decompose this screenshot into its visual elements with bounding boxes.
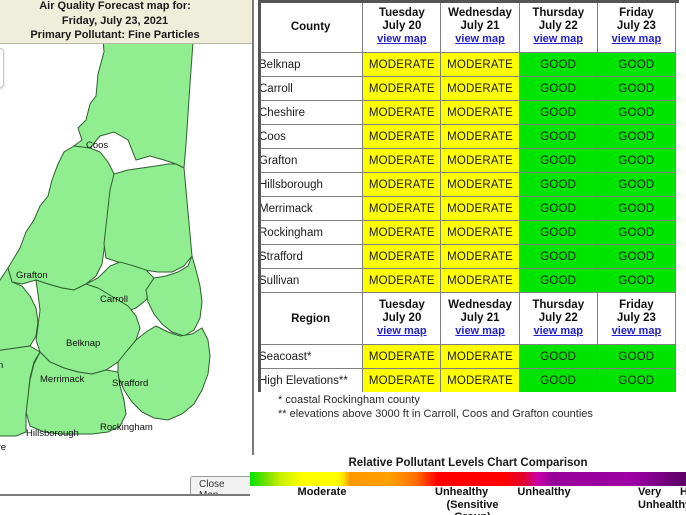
forecast-value: MODERATE — [441, 269, 519, 293]
view-map-link[interactable]: view map — [363, 325, 440, 338]
new-hampshire-county-map[interactable]: Coos Grafton Carroll Belknap Sullivan Me… — [0, 44, 254, 496]
row-label: Sullivan — [259, 269, 363, 293]
forecast-value: GOOD — [519, 173, 597, 197]
relative-pollutant-levels-chart: Relative Pollutant Levels Chart Comparis… — [250, 455, 686, 515]
label-very-unhealthy-line2: Unhealthy — [638, 499, 686, 512]
forecast-value: GOOD — [597, 149, 675, 173]
forecast-value: GOOD — [519, 345, 597, 369]
forecast-value: GOOD — [597, 269, 675, 293]
table-row: Coos MODERATE MODERATE GOOD GOOD — [259, 125, 676, 149]
forecast-value: GOOD — [597, 125, 675, 149]
forecast-value: GOOD — [597, 173, 675, 197]
air-quality-map-panel: Air Quality Forecast map for: Friday, Ju… — [0, 0, 254, 496]
forecast-value: MODERATE — [441, 345, 519, 369]
forecast-value: MODERATE — [441, 197, 519, 221]
table-row: High Elevations** MODERATE MODERATE GOOD… — [259, 369, 676, 393]
map-label-coos: Coos — [86, 140, 108, 151]
chart-title: Relative Pollutant Levels Chart Comparis… — [250, 455, 686, 469]
forecast-value: GOOD — [597, 245, 675, 269]
weekday-label: Tuesday — [379, 7, 425, 19]
date-label: July 22 — [539, 20, 578, 32]
table-row: Merrimack MODERATE MODERATE GOOD GOOD — [259, 197, 676, 221]
county-col-header-wednesday: Wednesday July 21 view map — [441, 1, 519, 53]
footnote-double-asterisk: ** elevations above 3000 ft in Carroll, … — [278, 408, 678, 422]
county-shape-grafton[interactable] — [8, 146, 114, 290]
forecast-value: GOOD — [597, 369, 675, 393]
forecast-value: MODERATE — [363, 221, 441, 245]
view-map-link[interactable]: view map — [441, 325, 518, 338]
table-row: Sullivan MODERATE MODERATE GOOD GOOD — [259, 269, 676, 293]
table-row: Carroll MODERATE MODERATE GOOD GOOD — [259, 77, 676, 101]
county-header-row: County Tuesday July 20 view map Wednesda… — [259, 1, 676, 53]
county-shape-carroll[interactable] — [104, 164, 192, 272]
forecast-value: GOOD — [519, 197, 597, 221]
forecast-value: GOOD — [519, 369, 597, 393]
footnote-single-asterisk: * coastal Rockingham county — [278, 394, 678, 408]
forecast-value: MODERATE — [363, 269, 441, 293]
label-usg-line1: Unhealthy — [435, 486, 488, 499]
forecast-value: GOOD — [597, 53, 675, 77]
forecast-value: GOOD — [519, 269, 597, 293]
date-label: July 23 — [617, 20, 656, 32]
row-label: Carroll — [259, 77, 363, 101]
label-very-unhealthy: Very Unhealthy — [598, 486, 678, 499]
table-row: Strafford MODERATE MODERATE GOOD GOOD — [259, 245, 676, 269]
map-label-grafton: Grafton — [16, 270, 48, 281]
label-very-unhealthy-line1: Very — [638, 486, 661, 499]
view-map-link[interactable]: view map — [441, 33, 518, 46]
forecast-value: MODERATE — [363, 369, 441, 393]
forecast-value: GOOD — [597, 101, 675, 125]
forecast-value: MODERATE — [363, 77, 441, 101]
forecast-value: GOOD — [597, 197, 675, 221]
date-label: July 22 — [539, 312, 578, 324]
date-label: July 21 — [461, 20, 500, 32]
forecast-value: GOOD — [519, 245, 597, 269]
county-col-header-thursday: Thursday July 22 view map — [519, 1, 597, 53]
table-footnotes: * coastal Rockingham county ** elevation… — [278, 394, 678, 421]
forecast-value: MODERATE — [363, 101, 441, 125]
forecast-value: MODERATE — [441, 221, 519, 245]
forecast-value: MODERATE — [363, 173, 441, 197]
row-label: Coos — [259, 125, 363, 149]
forecast-value: GOOD — [519, 77, 597, 101]
date-label: July 20 — [382, 20, 421, 32]
row-label: Hillsborough — [259, 173, 363, 197]
map-label-strafford: Strafford — [112, 378, 148, 389]
view-map-link[interactable]: view map — [598, 325, 675, 338]
weekday-label: Thursday — [532, 7, 584, 19]
map-header-line-3: Primary Pollutant: Fine Particles — [0, 28, 252, 43]
table-row: Cheshire MODERATE MODERATE GOOD GOOD — [259, 101, 676, 125]
table-row: Hillsborough MODERATE MODERATE GOOD GOOD — [259, 173, 676, 197]
map-header: Air Quality Forecast map for: Friday, Ju… — [0, 0, 252, 44]
map-label-rockingham: Rockingham — [100, 422, 153, 433]
forecast-value: MODERATE — [363, 125, 441, 149]
row-label: Merrimack — [259, 197, 363, 221]
table-row: Belknap MODERATE MODERATE GOOD GOOD — [259, 53, 676, 77]
weekday-label: Wednesday — [448, 7, 512, 19]
forecast-value: GOOD — [519, 149, 597, 173]
label-unhealthy-sensitive: Unhealthy (Sensitive Group) — [360, 486, 510, 499]
view-map-link[interactable]: view map — [363, 33, 440, 46]
label-hazardous-clipped: H — [674, 486, 686, 499]
weekday-label: Wednesday — [448, 299, 512, 311]
weekday-label: Thursday — [532, 299, 584, 311]
view-map-link[interactable]: view map — [520, 33, 597, 46]
row-label: High Elevations** — [259, 369, 363, 393]
table-row: Seacoast* MODERATE MODERATE GOOD GOOD — [259, 345, 676, 369]
view-map-link[interactable]: view map — [598, 33, 675, 46]
forecast-value: MODERATE — [363, 149, 441, 173]
forecast-value: GOOD — [597, 77, 675, 101]
county-col-header-tuesday: Tuesday July 20 view map — [363, 1, 441, 53]
forecast-value: GOOD — [519, 101, 597, 125]
map-header-line-1: Air Quality Forecast map for: — [0, 0, 252, 14]
pollutant-gradient-labels: Moderate Unhealthy (Sensitive Group) Unh… — [250, 486, 686, 515]
forecast-value: MODERATE — [441, 77, 519, 101]
air-quality-forecast-table-region: County Tuesday July 20 view map Wednesda… — [258, 0, 686, 392]
table-row: Grafton MODERATE MODERATE GOOD GOOD — [259, 149, 676, 173]
region-col-header-wednesday: Wednesday July 21 view map — [441, 293, 519, 345]
forecast-table: County Tuesday July 20 view map Wednesda… — [258, 0, 676, 392]
weekday-label: Friday — [619, 7, 654, 19]
forecast-value: MODERATE — [363, 245, 441, 269]
row-label: Belknap — [259, 53, 363, 77]
forecast-value: MODERATE — [363, 345, 441, 369]
row-label: Cheshire — [259, 101, 363, 125]
table-row: Rockingham MODERATE MODERATE GOOD GOOD — [259, 221, 676, 245]
map-label-belknap: Belknap — [66, 338, 100, 349]
county-col-header-friday: Friday July 23 view map — [597, 1, 675, 53]
weekday-label: Friday — [619, 299, 654, 311]
region-header-cell: Region — [259, 293, 363, 345]
map-label-cheshire: Cheshire — [0, 442, 6, 453]
forecast-value: GOOD — [597, 221, 675, 245]
region-header-row: Region Tuesday July 20 view map Wednesda… — [259, 293, 676, 345]
map-label-carroll: Carroll — [100, 294, 128, 305]
region-col-header-friday: Friday July 23 view map — [597, 293, 675, 345]
map-label-merrimack: Merrimack — [40, 374, 85, 385]
forecast-value: MODERATE — [441, 125, 519, 149]
forecast-value: GOOD — [597, 345, 675, 369]
row-label: Strafford — [259, 245, 363, 269]
weekday-label: Tuesday — [379, 299, 425, 311]
forecast-value: MODERATE — [441, 101, 519, 125]
region-col-header-thursday: Thursday July 22 view map — [519, 293, 597, 345]
forecast-value: MODERATE — [441, 53, 519, 77]
forecast-value: MODERATE — [441, 245, 519, 269]
view-map-link[interactable]: view map — [520, 325, 597, 338]
row-label: Rockingham — [259, 221, 363, 245]
region-col-header-tuesday: Tuesday July 20 view map — [363, 293, 441, 345]
date-label: July 21 — [461, 312, 500, 324]
map-label-hillsborough: Hillsborough — [26, 428, 79, 439]
label-moderate: Moderate — [272, 486, 372, 499]
row-label: Seacoast* — [259, 345, 363, 369]
forecast-value: GOOD — [519, 221, 597, 245]
label-unhealthy: Unhealthy — [492, 486, 596, 499]
date-label: July 23 — [617, 312, 656, 324]
map-label-sullivan: Sullivan — [0, 360, 3, 371]
forecast-value: MODERATE — [441, 173, 519, 197]
forecast-value: MODERATE — [363, 197, 441, 221]
label-usg-line2: (Sensitive Group) — [435, 499, 510, 515]
row-label: Grafton — [259, 149, 363, 173]
close-map-button[interactable]: Close Map — [190, 476, 252, 496]
forecast-value: MODERATE — [441, 149, 519, 173]
forecast-value: MODERATE — [441, 369, 519, 393]
forecast-value: MODERATE — [363, 53, 441, 77]
county-header-cell: County — [259, 1, 363, 53]
forecast-value: GOOD — [519, 125, 597, 149]
pollutant-gradient-bar — [250, 472, 686, 486]
forecast-value: GOOD — [519, 53, 597, 77]
date-label: July 20 — [382, 312, 421, 324]
map-header-line-2: Friday, July 23, 2021 — [0, 14, 252, 29]
